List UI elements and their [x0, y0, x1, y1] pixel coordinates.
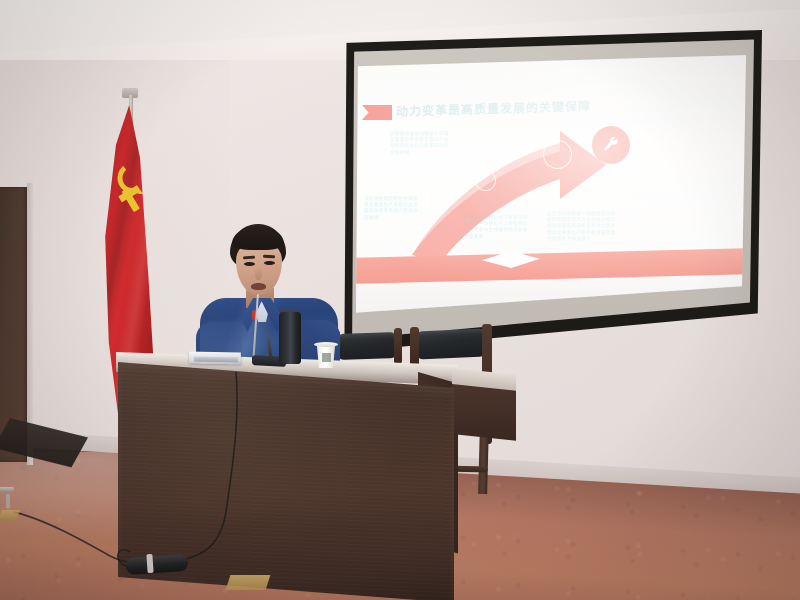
mouth [251, 283, 266, 290]
eye-left [244, 262, 255, 266]
conference-room-photo: 动力变革是高质量发展的关键保障 创新驱动发展战略深入实施全要素生产率稳步提升产业… [0, 0, 800, 600]
slide-milestone-ring-3 [543, 140, 572, 169]
paper-cup-logo [322, 353, 331, 362]
hammer-sickle-icon [115, 162, 147, 219]
floor-outlet-plate[interactable] [226, 575, 271, 590]
eyebrow-right [263, 255, 275, 259]
slide-title-ribbon-icon [362, 105, 392, 120]
paper-cup-rim [314, 342, 338, 347]
door-lock-icon [6, 494, 10, 508]
side-table-front [452, 384, 516, 441]
projection-screen: 动力变革是高质量发展的关键保障 创新驱动发展战略深入实施全要素生产率稳步提升产业… [352, 53, 746, 318]
chair-backrest [414, 328, 487, 359]
slide: 动力变革是高质量发展的关键保障 创新驱动发展战略深入实施全要素生产率稳步提升产业… [352, 53, 746, 318]
documents-edge [194, 357, 238, 363]
slide-text-block-1: 创新驱动发展战略深入实施全要素生产率稳步提升产业结构持续优化升级新旧动能加快转换 [390, 131, 452, 156]
wrench-icon [602, 136, 620, 154]
nose [255, 266, 262, 280]
slide-text-block-3: 加快建设现代化经济体系坚持质量第一效益优先以供给侧结构性改革为主线推动经济发展质… [464, 215, 530, 240]
chair-leg-back [478, 428, 489, 494]
eye-right [264, 261, 275, 265]
slide-title: 动力变革是高质量发展的关键保障 [396, 97, 591, 119]
door-handle-icon[interactable] [0, 487, 14, 492]
thermos[interactable] [279, 312, 301, 364]
slide-text-block-2: 深化供给侧结构性改革提高全要素生产率推动质量变革效率变革动力变革协同推进 [364, 196, 422, 221]
cable-tie [146, 554, 153, 573]
slide-text-block-4: 必须坚持质量第一效益优先以供给侧结构性改革为主线推动经济发展质量变革效率变革动力… [547, 211, 619, 242]
slide-wrench-badge [592, 126, 630, 164]
chair-post-left [410, 327, 419, 367]
hair-fringe [232, 226, 284, 250]
chair-post-right [394, 328, 402, 364]
slide-milestone-ring-2 [475, 170, 496, 191]
